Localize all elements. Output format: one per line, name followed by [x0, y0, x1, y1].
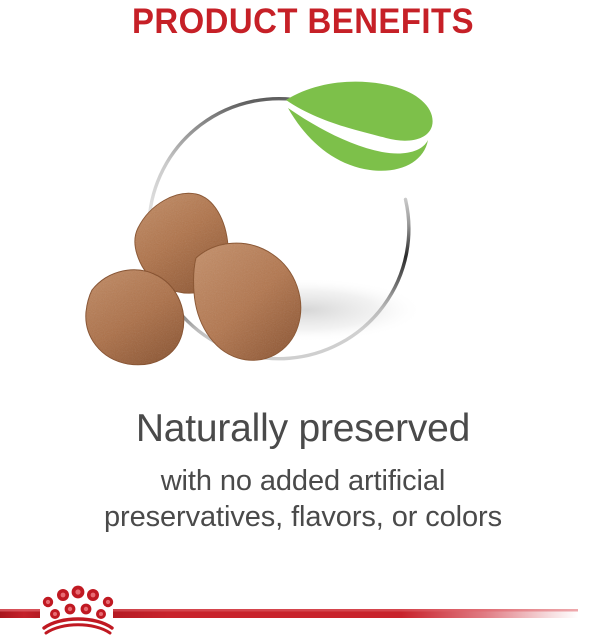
product-benefits-panel: PRODUCT BENEFITS: [0, 0, 606, 636]
kibble-pieces: [86, 193, 424, 364]
benefit-headline: Naturally preserved: [0, 404, 606, 454]
left-red-rule: [0, 609, 40, 618]
benefit-subtext-line-1: with no added artificial: [0, 463, 606, 499]
benefit-subtext-line-2: preservatives, flavors, or colors: [0, 499, 606, 535]
right-red-rule: [113, 609, 578, 618]
brand-footer: [0, 576, 606, 636]
benefit-copy: Naturally preserved with no added artifi…: [0, 404, 606, 535]
page-title: PRODUCT BENEFITS: [18, 2, 588, 42]
royal-canin-crown: [43, 586, 113, 633]
green-leaf-icon: [286, 82, 433, 171]
benefit-illustration: [0, 78, 606, 388]
benefit-subtext: with no added artificial preservatives, …: [0, 463, 606, 535]
